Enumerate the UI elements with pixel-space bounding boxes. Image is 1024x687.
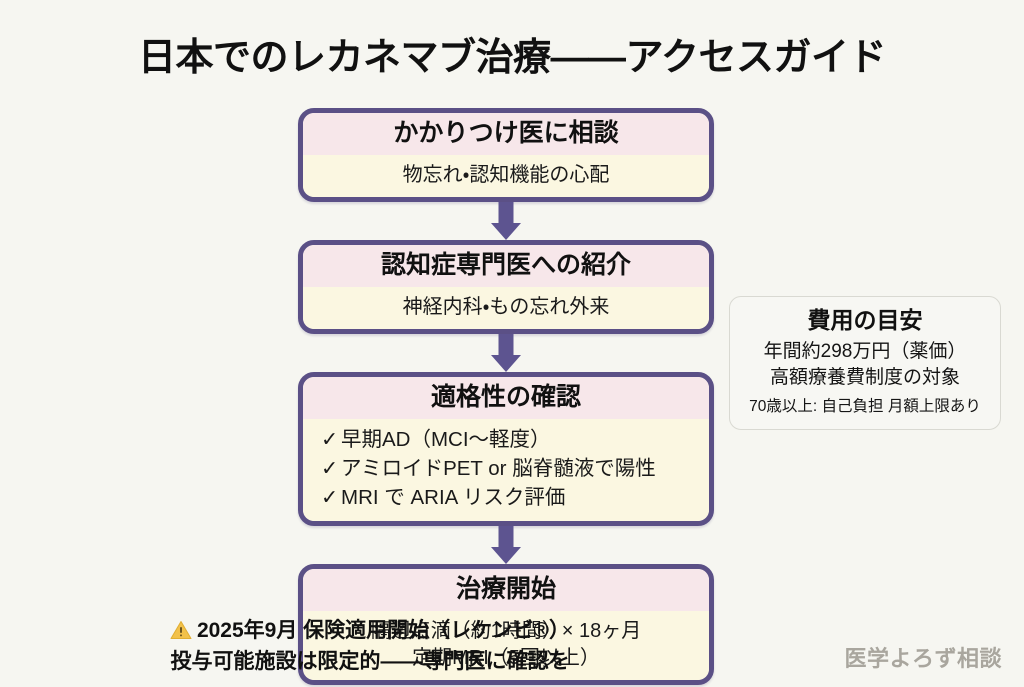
cost-panel: 費用の目安 年間約298万円（薬価） 高額療養費制度の対象 70歳以上: 自己負… bbox=[729, 296, 1001, 430]
cost-panel-note: 70歳以上: 自己負担 月額上限あり bbox=[740, 397, 990, 417]
flow-arrow-1 bbox=[298, 202, 714, 240]
flow-step-2-heading: 認知症専門医への紹介 bbox=[303, 245, 709, 287]
flow-step-3-line-2-text: アミロイドPET or 脳脊髄液で陽性 bbox=[341, 457, 656, 480]
watermark: 医学よろず相談 bbox=[844, 641, 1002, 673]
flow-step-3-line-1: ✓早期AD（MCI〜軽度） bbox=[321, 425, 701, 454]
flow-step-2: 認知症専門医への紹介 神経内科・もの忘れ外来 bbox=[298, 240, 714, 334]
flow-step-1-body: 物忘れ・認知機能の心配 bbox=[303, 155, 709, 197]
warning-triangle-icon bbox=[170, 620, 192, 648]
arrow-head-icon bbox=[491, 223, 521, 240]
flow-step-3-line-1-text: 早期AD（MCI〜軽度） bbox=[341, 428, 551, 451]
flow-step-1-line-1: 物忘れ・認知機能の心配 bbox=[311, 162, 701, 188]
flow-step-4-heading: 治療開始 bbox=[303, 569, 709, 611]
cost-panel-title: 費用の目安 bbox=[740, 307, 990, 335]
flow-arrow-2 bbox=[298, 334, 714, 372]
flow-step-1-heading: かかりつけ医に相談 bbox=[303, 113, 709, 155]
flow-step-3-line-2: ✓アミロイドPET or 脳脊髄液で陽性 bbox=[321, 454, 701, 483]
check-icon: ✓ bbox=[321, 454, 341, 483]
flow-step-3-body: ✓早期AD（MCI〜軽度） ✓アミロイドPET or 脳脊髄液で陽性 ✓MRI … bbox=[303, 419, 709, 521]
cost-panel-line-1: 年間約298万円（薬価） bbox=[740, 339, 990, 365]
flow-step-3-heading: 適格性の確認 bbox=[303, 377, 709, 419]
flow-arrow-3 bbox=[298, 526, 714, 564]
arrow-shaft-icon bbox=[499, 526, 514, 548]
flow-step-3: 適格性の確認 ✓早期AD（MCI〜軽度） ✓アミロイドPET or 脳脊髄液で陽… bbox=[298, 372, 714, 526]
footer-note-line-1-text: 2025年9月 保険適用開始（レケンビ®） bbox=[197, 619, 570, 642]
treatment-flow: かかりつけ医に相談 物忘れ・認知機能の心配 認知症専門医への紹介 神経内科・もの… bbox=[298, 108, 714, 685]
arrow-head-icon bbox=[491, 547, 521, 564]
page-title: 日本でのレカネマブ治療——アクセスガイド bbox=[0, 26, 1024, 81]
flow-step-2-body: 神経内科・もの忘れ外来 bbox=[303, 287, 709, 329]
check-icon: ✓ bbox=[321, 483, 341, 512]
flow-step-1: かかりつけ医に相談 物忘れ・認知機能の心配 bbox=[298, 108, 714, 202]
flow-step-3-line-3-text: MRI で ARIA リスク評価 bbox=[341, 486, 565, 509]
arrow-shaft-icon bbox=[499, 334, 514, 356]
check-icon: ✓ bbox=[321, 425, 341, 454]
footer-note-line-1: 2025年9月 保険適用開始（レケンビ®） bbox=[0, 617, 740, 648]
arrow-shaft-icon bbox=[499, 202, 514, 224]
footer-note: 2025年9月 保険適用開始（レケンビ®） 投与可能施設は限定的——専門医に確認… bbox=[0, 617, 740, 676]
infographic-page: 日本でのレカネマブ治療——アクセスガイド かかりつけ医に相談 物忘れ・認知機能の… bbox=[0, 0, 1024, 687]
flow-step-2-line-1: 神経内科・もの忘れ外来 bbox=[311, 294, 701, 320]
arrow-head-icon bbox=[491, 355, 521, 372]
flow-step-3-line-3: ✓MRI で ARIA リスク評価 bbox=[321, 483, 701, 512]
footer-note-line-2: 投与可能施設は限定的——専門医に確認を bbox=[0, 648, 740, 676]
cost-panel-line-2: 高額療養費制度の対象 bbox=[740, 365, 990, 391]
